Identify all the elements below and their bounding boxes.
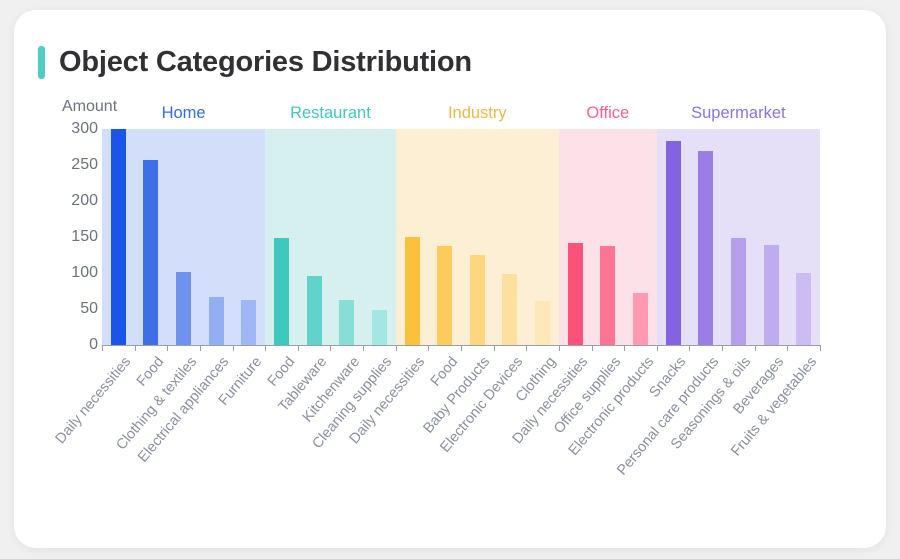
chart-plot-area: Amount 050100150200250300 HomeRestaurant… [14, 10, 886, 548]
y-axis-tick-label: 50 [80, 300, 98, 318]
bar[interactable] [372, 310, 387, 345]
x-axis-tick [396, 345, 397, 351]
x-axis-tick [722, 345, 723, 351]
bar[interactable] [731, 238, 746, 345]
x-axis-tick [298, 345, 299, 351]
bar[interactable] [698, 151, 713, 345]
bar-slot [526, 129, 559, 345]
bar[interactable] [176, 272, 191, 345]
x-axis-tick [820, 345, 821, 351]
y-axis-tick-label: 100 [71, 264, 98, 282]
y-axis-tick-labels: 050100150200250300 [54, 129, 98, 345]
bar[interactable] [111, 129, 126, 345]
bar-slot [722, 129, 755, 345]
chart-group-home: Home [102, 129, 265, 345]
bar[interactable] [796, 273, 811, 345]
x-axis-tick [330, 345, 331, 351]
chart-group-supermarket: Supermarket [657, 129, 820, 345]
group-label-home: Home [102, 104, 265, 123]
bar[interactable] [405, 237, 420, 345]
x-axis-tick [428, 345, 429, 351]
group-bars [265, 129, 396, 345]
bar[interactable] [535, 301, 550, 345]
x-axis-tick [592, 345, 593, 351]
x-axis-tick [559, 345, 560, 351]
bar-slot [787, 129, 820, 345]
chart-card: Object Categories Distribution Amount 05… [14, 10, 886, 548]
x-axis-tick [265, 345, 266, 351]
bar-slot [363, 129, 396, 345]
chart-group-restaurant: Restaurant [265, 129, 396, 345]
bar-slot [265, 129, 298, 345]
bar[interactable] [437, 246, 452, 345]
bar[interactable] [633, 293, 648, 345]
bar-slot [461, 129, 494, 345]
group-bars [657, 129, 820, 345]
x-axis-tick [755, 345, 756, 351]
bar[interactable] [339, 300, 354, 345]
bar[interactable] [764, 245, 779, 345]
group-label-industry: Industry [396, 104, 559, 123]
group-label-restaurant: Restaurant [265, 104, 396, 123]
bar-slot [592, 129, 625, 345]
bar[interactable] [241, 300, 256, 345]
x-axis-tick [102, 345, 103, 351]
y-axis-tick-label: 200 [71, 192, 98, 210]
bar-slot [689, 129, 722, 345]
gridline [102, 309, 107, 310]
x-axis-tick-labels: Daily necessitiesFoodClothing & textiles… [102, 354, 820, 534]
x-axis-tick [461, 345, 462, 351]
x-axis-tick [233, 345, 234, 351]
bar[interactable] [502, 274, 517, 345]
x-axis-tick [200, 345, 201, 351]
gridline [102, 129, 107, 130]
chart-group-industry: Industry [396, 129, 559, 345]
group-bars [102, 129, 265, 345]
bar[interactable] [600, 246, 615, 345]
y-axis-tick-label: 250 [71, 156, 98, 174]
x-axis-tick [657, 345, 658, 351]
bar[interactable] [470, 255, 485, 345]
bar[interactable] [274, 238, 289, 345]
bar[interactable] [143, 160, 158, 345]
group-bars [559, 129, 657, 345]
bar[interactable] [209, 297, 224, 345]
x-axis-tick [363, 345, 364, 351]
x-axis-tick [689, 345, 690, 351]
group-bars [396, 129, 559, 345]
group-label-supermarket: Supermarket [657, 104, 820, 123]
bar[interactable] [568, 243, 583, 345]
gridline [102, 273, 107, 274]
x-axis-tick [787, 345, 788, 351]
bar-slot [396, 129, 429, 345]
bar-slot [755, 129, 788, 345]
bar-slot [559, 129, 592, 345]
bar-slot [135, 129, 168, 345]
y-axis-tick-label: 150 [71, 228, 98, 246]
gridline [102, 201, 107, 202]
bar-slot [494, 129, 527, 345]
gridline [102, 165, 107, 166]
bar-slot [233, 129, 266, 345]
x-axis-tick [167, 345, 168, 351]
bar-slot [330, 129, 363, 345]
gridline [102, 237, 107, 238]
x-axis-tick [494, 345, 495, 351]
chart-group-bands: HomeRestaurantIndustryOfficeSupermarket [102, 129, 820, 345]
y-axis-tick-label: 0 [89, 336, 98, 354]
bar[interactable] [307, 276, 322, 345]
x-axis-tick [135, 345, 136, 351]
y-axis-tick-label: 300 [71, 120, 98, 138]
chart-group-office: Office [559, 129, 657, 345]
x-axis-tick [526, 345, 527, 351]
bar-slot [624, 129, 657, 345]
group-label-office: Office [559, 104, 657, 123]
bar-slot [167, 129, 200, 345]
bar[interactable] [666, 141, 681, 345]
bar-slot [298, 129, 331, 345]
bar-slot [428, 129, 461, 345]
bar-slot [657, 129, 690, 345]
x-axis-tick [624, 345, 625, 351]
bar-slot [200, 129, 233, 345]
